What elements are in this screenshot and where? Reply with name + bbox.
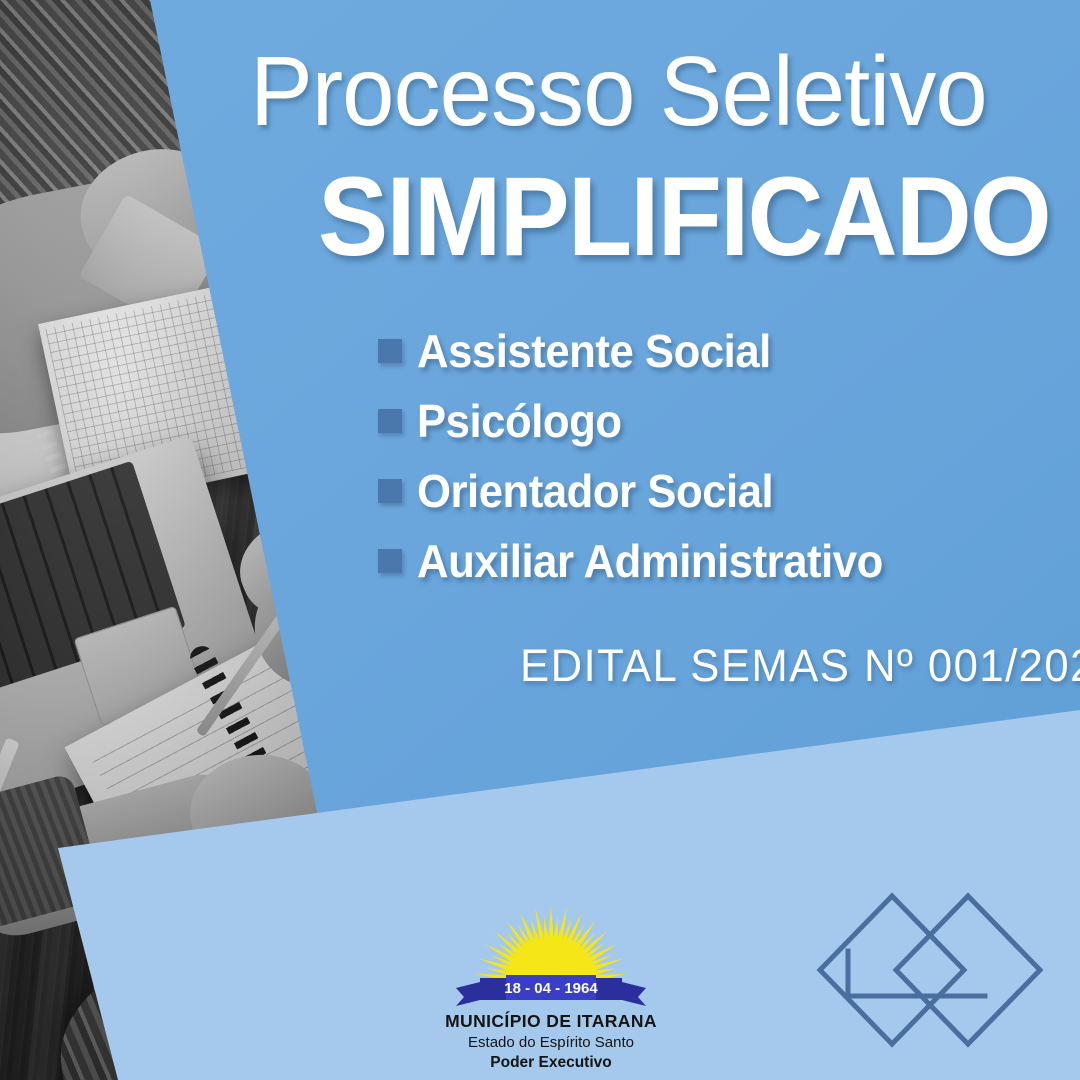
role-label: Auxiliar Administrativo (417, 534, 883, 588)
bullet-square-icon (378, 339, 402, 363)
logo-state: Estado do Espírito Santo (434, 1034, 668, 1051)
bullet-square-icon (378, 549, 402, 573)
edital-reference: EDITAL SEMAS Nº 001/2023 (520, 640, 1080, 692)
poster-canvas: Processo Seletivo SIMPLIFICADO Assistent… (0, 0, 1080, 1080)
list-item: Orientador Social (378, 456, 1078, 526)
page-title-line2: SIMPLIFICADO (318, 160, 1079, 274)
bullet-square-icon (378, 409, 402, 433)
role-label: Psicólogo (417, 394, 622, 448)
ribbon-date: 18 - 04 - 1964 (504, 980, 598, 997)
roles-list: Assistente Social Psicólogo Orientador S… (378, 316, 1078, 596)
poster-content: Processo Seletivo SIMPLIFICADO Assistent… (0, 0, 1080, 1080)
logo-municipality: MUNICÍPIO DE ITARANA (434, 1011, 668, 1032)
coat-of-arms-icon: 18 - 04 - 1964 (434, 900, 668, 1010)
list-item: Assistente Social (378, 316, 1078, 386)
bullet-square-icon (378, 479, 402, 503)
logo-branch: Poder Executivo (434, 1054, 668, 1072)
page-title-line1: Processo Seletivo (250, 42, 1028, 142)
role-label: Assistente Social (417, 324, 771, 378)
municipality-logo: 18 - 04 - 1964 MUNICÍPIO DE ITARANA Esta… (434, 900, 668, 1072)
list-item: Auxiliar Administrativo (378, 526, 1078, 596)
list-item: Psicólogo (378, 386, 1078, 456)
role-label: Orientador Social (417, 464, 773, 518)
